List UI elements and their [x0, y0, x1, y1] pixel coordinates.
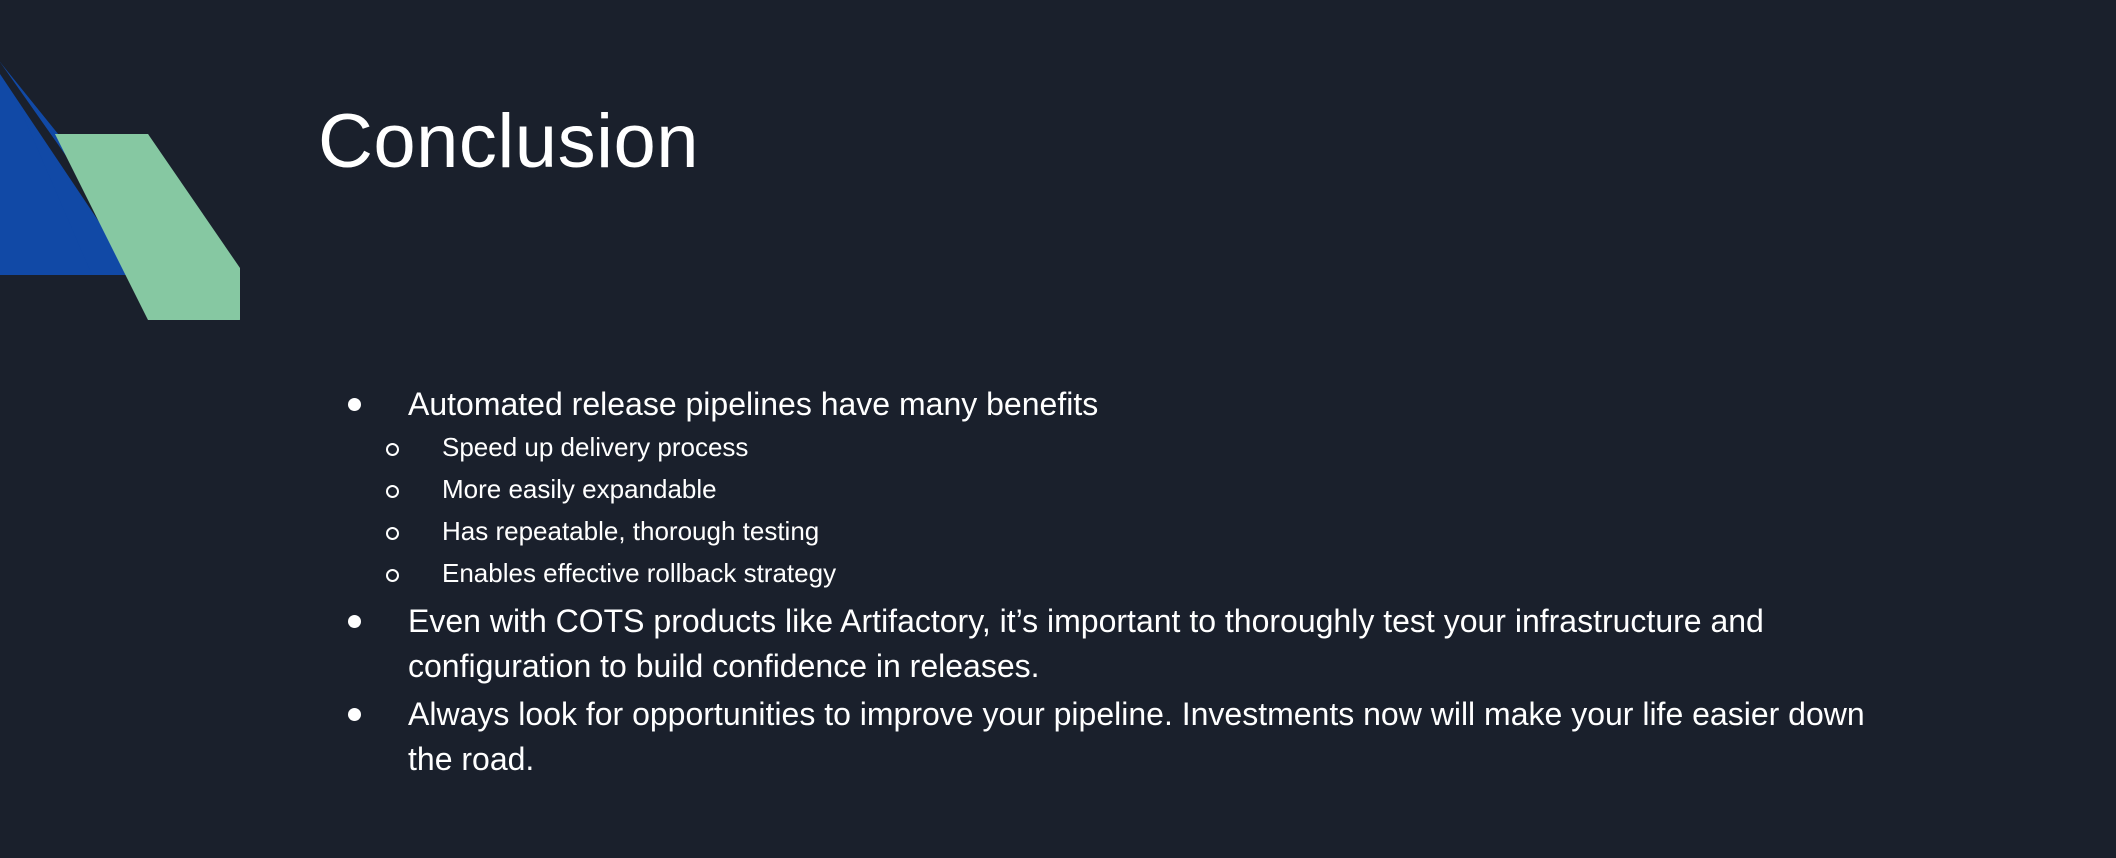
page-title: Conclusion: [318, 102, 699, 182]
shape-separator: [0, 62, 152, 286]
corner-chevron-decoration: [0, 0, 260, 340]
list-item-label: Even with COTS products like Artifactory…: [408, 599, 1898, 690]
bullet-marker-hollow-circle-icon: [378, 431, 442, 456]
list-item: More easily expandable: [378, 473, 1920, 507]
green-parallelogram-shape: [55, 134, 240, 320]
list-item: Always look for opportunities to improve…: [340, 692, 1920, 783]
bullet-marker-hollow-circle-icon: [378, 473, 442, 498]
bullet-marker-hollow-circle-icon: [378, 557, 442, 582]
sub-list-item-label: Enables effective rollback strategy: [442, 557, 1920, 591]
blue-band-shape: [0, 62, 88, 275]
sub-list-item-label: More easily expandable: [442, 473, 1920, 507]
list-item-label: Always look for opportunities to improve…: [408, 692, 1898, 783]
green-parallelogram-body: [55, 134, 240, 320]
bullet-group-1: Automated release pipelines have many be…: [340, 382, 1920, 591]
bullet-marker-filled-circle-icon: [340, 599, 408, 628]
sub-list-item-label: Speed up delivery process: [442, 431, 1920, 465]
bullet-marker-filled-circle-icon: [340, 692, 408, 721]
bullet-marker-filled-circle-icon: [340, 382, 408, 411]
bullet-marker-hollow-circle-icon: [378, 515, 442, 540]
sub-list-item-label: Has repeatable, thorough testing: [442, 515, 1920, 549]
list-item: Enables effective rollback strategy: [378, 557, 1920, 591]
list-item: Automated release pipelines have many be…: [340, 382, 1920, 427]
list-item: Speed up delivery process: [378, 431, 1920, 465]
slide-canvas: Conclusion Automated release pipelines h…: [0, 0, 2116, 858]
list-item-label: Automated release pipelines have many be…: [408, 382, 1898, 427]
sub-bullet-list: Speed up delivery process More easily ex…: [340, 431, 1920, 590]
blue-band-extension: [0, 62, 148, 275]
bullet-list: Automated release pipelines have many be…: [340, 382, 1920, 784]
list-item: Has repeatable, thorough testing: [378, 515, 1920, 549]
blue-band-shape-main: [0, 62, 92, 275]
list-item: Even with COTS products like Artifactory…: [340, 599, 1920, 690]
